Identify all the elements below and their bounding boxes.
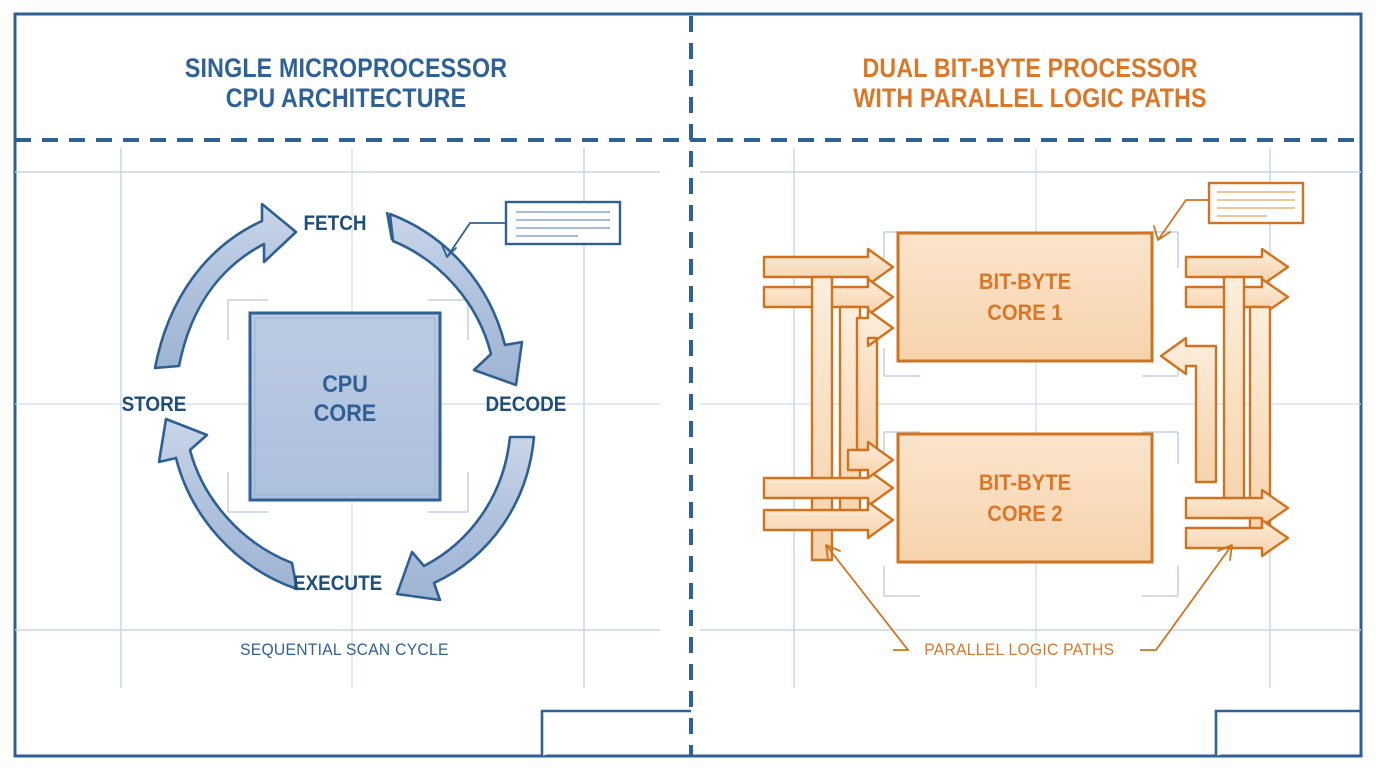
cpu-core-box [250, 313, 440, 500]
bit-byte-core-1-box [898, 233, 1152, 361]
callout-box-icon-left [506, 202, 620, 244]
bit-byte-core-2-box [898, 434, 1152, 562]
diagram-canvas: SINGLE MICROPROCESSOR CPU ARCHITECTURE D… [0, 0, 1376, 768]
diagram-graphics [0, 0, 1376, 768]
callout-box-icon-right [1209, 183, 1303, 223]
bus-riser-right-a [1224, 277, 1244, 518]
